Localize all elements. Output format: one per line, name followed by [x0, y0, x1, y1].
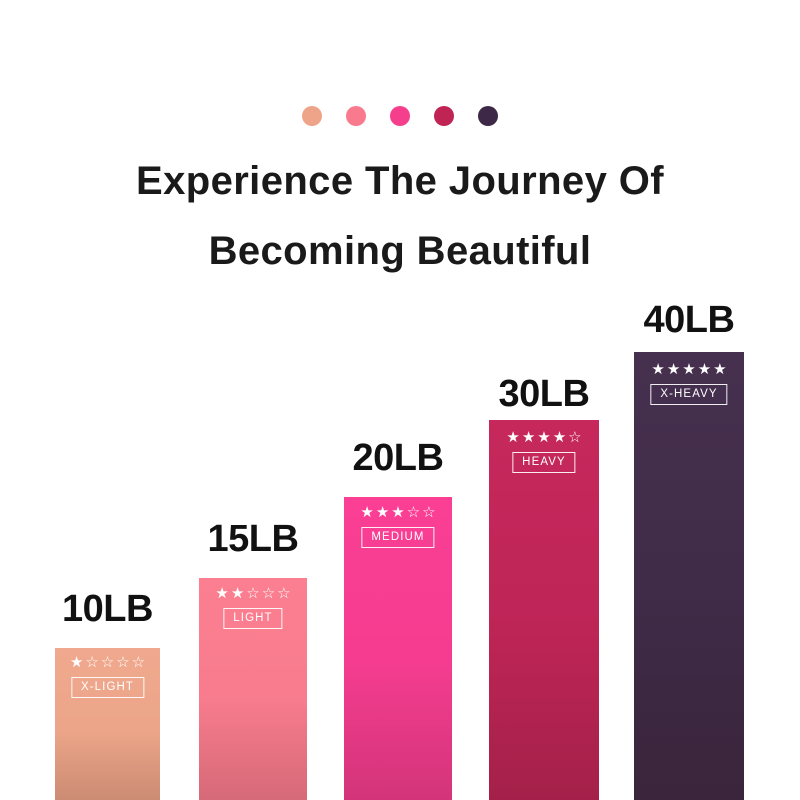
bar-weight-label-medium: 20LB: [353, 437, 444, 480]
star-filled-icon: ★: [376, 505, 389, 520]
bar-badge-light: ★★☆☆☆LIGHT: [215, 586, 290, 629]
bar-x-heavy[interactable]: [634, 352, 744, 800]
bar-badge-heavy: ★★★★☆HEAVY: [506, 430, 581, 473]
level-label-x-heavy: X-HEAVY: [650, 384, 727, 405]
bar-badge-x-heavy: ★★★★★X-HEAVY: [650, 362, 727, 405]
bar-bottom-shade: [344, 664, 452, 800]
star-rating-medium: ★★★☆☆: [360, 505, 435, 520]
bar-chart: 10LB★☆☆☆☆X-LIGHT15LB★★☆☆☆LIGHT20LB★★★☆☆M…: [0, 0, 800, 800]
star-empty-icon: ☆: [262, 586, 275, 601]
bar-weight-label-heavy: 30LB: [499, 373, 590, 416]
bar-group-heavy: [489, 420, 599, 800]
star-rating-x-light: ★☆☆☆☆: [70, 655, 145, 670]
bar-bottom-shade: [634, 598, 744, 800]
star-rating-x-heavy: ★★★★★: [651, 362, 726, 377]
bar-bottom-shade: [55, 732, 160, 800]
star-filled-icon: ★: [553, 430, 566, 445]
bar-group-x-heavy: [634, 352, 744, 800]
bar-weight-label-x-light: 10LB: [62, 588, 153, 631]
star-empty-icon: ☆: [116, 655, 129, 670]
bar-badge-medium: ★★★☆☆MEDIUM: [360, 505, 435, 548]
bar-bottom-shade: [489, 629, 599, 800]
star-filled-icon: ★: [713, 362, 726, 377]
star-rating-light: ★★☆☆☆: [215, 586, 290, 601]
bar-weight-label-x-heavy: 40LB: [644, 299, 735, 342]
star-empty-icon: ☆: [422, 505, 435, 520]
star-rating-heavy: ★★★★☆: [506, 430, 581, 445]
resistance-band-infographic: Experience The Journey Of Becoming Beaut…: [0, 0, 800, 800]
star-filled-icon: ★: [70, 655, 83, 670]
star-filled-icon: ★: [651, 362, 664, 377]
level-label-x-light: X-LIGHT: [71, 677, 144, 698]
star-filled-icon: ★: [537, 430, 550, 445]
star-empty-icon: ☆: [246, 586, 259, 601]
level-label-light: LIGHT: [223, 608, 282, 629]
level-label-medium: MEDIUM: [361, 527, 434, 548]
star-filled-icon: ★: [231, 586, 244, 601]
bar-badge-x-light: ★☆☆☆☆X-LIGHT: [70, 655, 145, 698]
star-filled-icon: ★: [698, 362, 711, 377]
star-filled-icon: ★: [667, 362, 680, 377]
bar-bottom-shade: [199, 700, 307, 800]
star-filled-icon: ★: [522, 430, 535, 445]
star-filled-icon: ★: [682, 362, 695, 377]
star-filled-icon: ★: [506, 430, 519, 445]
star-filled-icon: ★: [360, 505, 373, 520]
star-empty-icon: ☆: [132, 655, 145, 670]
star-empty-icon: ☆: [101, 655, 114, 670]
bar-heavy[interactable]: [489, 420, 599, 800]
star-filled-icon: ★: [391, 505, 404, 520]
bar-weight-label-light: 15LB: [208, 518, 299, 561]
star-empty-icon: ☆: [407, 505, 420, 520]
star-empty-icon: ☆: [277, 586, 290, 601]
star-filled-icon: ★: [215, 586, 228, 601]
star-empty-icon: ☆: [85, 655, 98, 670]
level-label-heavy: HEAVY: [512, 452, 576, 473]
star-empty-icon: ☆: [568, 430, 581, 445]
